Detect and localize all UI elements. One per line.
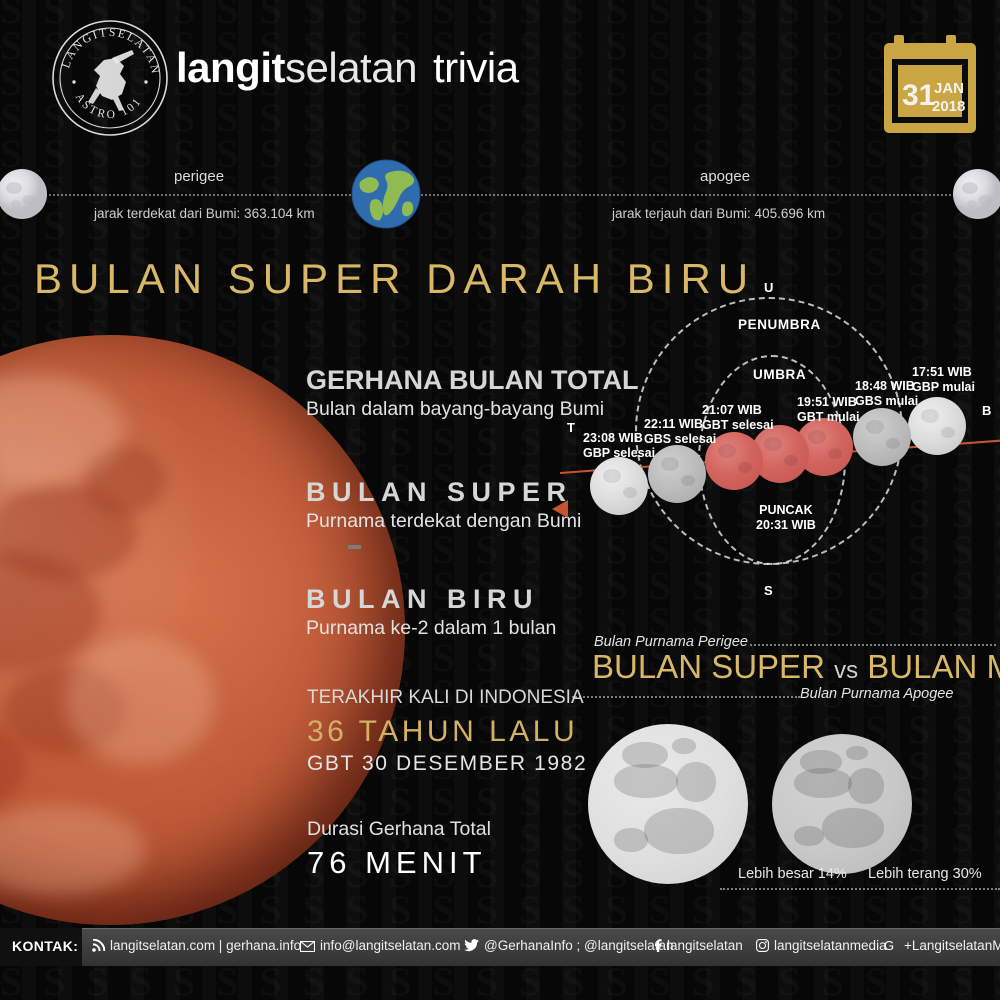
- calendar-icon: 31 JAN 2018: [884, 33, 976, 133]
- brand-part-3: trivia: [433, 44, 519, 91]
- peak-label-group: PUNCAK 20:31 WIB: [756, 503, 816, 532]
- phase-time-1848: 18:48 WIB: [855, 379, 915, 393]
- phase-event-2308: GBP selesai: [583, 446, 655, 460]
- penumbra-label: PENUMBRA: [738, 317, 821, 332]
- phase-time-1951: 19:51 WIB: [797, 395, 857, 409]
- langitselatan-logo-seal: LANGITSELATAN ASTRO 101: [50, 18, 170, 138]
- compare-bottom-rule: [572, 696, 800, 698]
- brand-title: langitselatantrivia: [176, 44, 519, 92]
- instagram-icon: [756, 939, 769, 952]
- eclipse-moon-2308: [590, 457, 648, 515]
- calendar-month: JAN: [934, 80, 964, 97]
- compare-title: BULAN SUPER vs BULAN MINI: [592, 648, 1000, 686]
- eclipse-diagram: U S T B PENUMBRA UMBRA: [550, 275, 1000, 620]
- footer-link-facebook-text: langitselatan: [667, 938, 743, 953]
- axis-label-east: T: [567, 420, 575, 435]
- last-time-label: TERAKHIR KALI DI INDONESIA: [307, 687, 584, 709]
- phase-time-2211: 22:11 WIB: [644, 417, 703, 431]
- earth-icon: [350, 158, 422, 230]
- footer-link-instagram-text: langitselatanmedia: [774, 938, 887, 953]
- phase-label-2107: 21:07 WIB GBT selesai: [702, 403, 774, 432]
- header: LANGITSELATAN ASTRO 101 langitselatantri…: [0, 0, 1000, 150]
- apogee-moon-icon: [952, 168, 1000, 220]
- eclipse-moon-1848: [853, 408, 911, 466]
- minimoon-disc: [772, 734, 912, 874]
- supermoon-disc: [588, 724, 748, 884]
- footer-link-googleplus-text: +LangitselatanMedia: [904, 938, 1000, 953]
- divider-dash: [348, 545, 361, 549]
- perigee-label: perigee: [174, 168, 224, 185]
- footer-link-email-text: info@langitselatan.com: [320, 938, 461, 953]
- fact-sub-bulan-biru: Purnama ke-2 dalam 1 bulan: [306, 617, 556, 640]
- caption-lebih-besar: Lebih besar 14%: [738, 866, 847, 882]
- footer-link-website-text: langitselatan.com | gerhana.info: [110, 938, 301, 953]
- footer-link-instagram[interactable]: langitselatanmedia: [756, 938, 887, 953]
- compare-title-vs: vs: [834, 657, 858, 684]
- footer-link-twitter-text: @GerhanaInfo ; @langitselatan: [484, 938, 674, 953]
- calendar-day: 31: [902, 79, 935, 112]
- peak-label: PUNCAK: [759, 503, 812, 517]
- compare-title-b: BULAN MINI: [867, 648, 1000, 685]
- facebook-icon: [654, 939, 662, 952]
- fact-sub-bulan-super: Purnama terdekat dengan Bumi: [306, 510, 581, 533]
- compare-top-rule: [750, 644, 996, 646]
- phase-event-1751: GBP mulai: [912, 380, 975, 394]
- phase-event-2107: GBT selesai: [702, 418, 774, 432]
- duration-label: Durasi Gerhana Total: [307, 818, 491, 841]
- perigee-moon-icon: [0, 168, 48, 220]
- peak-time: 20:31 WIB: [756, 518, 816, 532]
- footer-link-email[interactable]: info@langitselatan.com: [300, 938, 461, 953]
- googleplus-icon: G: [884, 939, 899, 952]
- umbra-label: UMBRA: [753, 367, 806, 382]
- compare-caption-rule: [720, 888, 1000, 890]
- phase-time-2107: 21:07 WIB: [702, 403, 762, 417]
- footer-link-website[interactable]: langitselatan.com | gerhana.info: [92, 938, 301, 953]
- axis-label-west: B: [982, 403, 991, 418]
- axis-label-south: S: [764, 583, 773, 598]
- twitter-icon: [464, 939, 479, 952]
- phase-time-1751: 17:51 WIB: [912, 365, 972, 379]
- duration-value: 76 MENIT: [307, 845, 487, 881]
- phase-label-1848: 18:48 WIB GBS mulai: [855, 379, 918, 408]
- fact-heading-bulan-super: BULAN SUPER: [306, 477, 573, 508]
- rss-icon: [92, 939, 105, 952]
- last-time-value: 36 TAHUN LALU: [307, 715, 578, 749]
- kontak-label: KONTAK:: [12, 938, 78, 954]
- caption-lebih-terang: Lebih terang 30%: [868, 866, 982, 882]
- brand-part-1: langit: [176, 44, 285, 91]
- phase-time-2308: 23:08 WIB: [583, 431, 643, 445]
- orbit-dotted-line: [22, 194, 978, 196]
- compare-bottom-script: Bulan Purnama Apogee: [800, 686, 953, 702]
- compare-title-a: BULAN SUPER: [592, 648, 825, 685]
- phase-label-1751: 17:51 WIB GBP mulai: [912, 365, 975, 394]
- phase-label-1951: 19:51 WIB GBT mulai: [797, 395, 860, 424]
- footer-link-facebook[interactable]: langitselatan: [654, 938, 743, 953]
- supermoon-vs-minimoon: Bulan Purnama Perigee BULAN SUPER vs BUL…: [560, 630, 1000, 910]
- calendar-year: 2018: [932, 98, 965, 115]
- last-time-detail: GBT 30 DESEMBER 1982: [307, 752, 587, 776]
- envelope-icon: [300, 941, 315, 952]
- phase-event-2211: GBS selesai: [644, 432, 716, 446]
- footer-link-googleplus[interactable]: G +LangitselatanMedia: [884, 938, 1000, 953]
- phase-event-1951: GBT mulai: [797, 410, 860, 424]
- apogee-label: apogee: [700, 168, 750, 185]
- orbit-distance-strip: perigee jarak terdekat dari Bumi: 363.10…: [0, 150, 1000, 240]
- footer-link-twitter[interactable]: @GerhanaInfo ; @langitselatan: [464, 938, 674, 953]
- phase-event-1848: GBS mulai: [855, 394, 918, 408]
- track-direction-arrow: [552, 500, 568, 518]
- apogee-distance: jarak terjauh dari Bumi: 405.696 km: [612, 206, 825, 221]
- perigee-distance: jarak terdekat dari Bumi: 363.104 km: [94, 206, 315, 221]
- fact-heading-bulan-biru: BULAN BIRU: [306, 584, 539, 615]
- svg-text:G: G: [884, 939, 894, 952]
- brand-part-2: selatan: [285, 44, 417, 91]
- axis-label-north: U: [764, 280, 773, 295]
- infographic-canvas: SSSSSSSSSSSSSSSSSSSSSSSSSSSSSSSSSSSSSSSS…: [0, 0, 1000, 1000]
- eclipse-moon-2211: [648, 445, 706, 503]
